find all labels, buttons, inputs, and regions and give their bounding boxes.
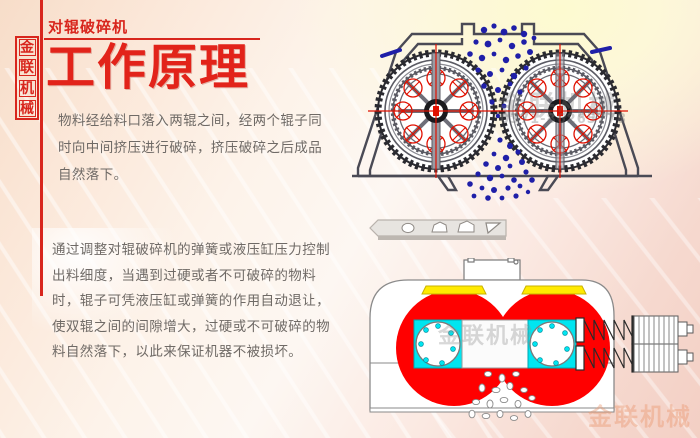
feed-plate-right [522,286,586,294]
logo-char-2: 联 [19,59,36,76]
poster-canvas: 金 联 机 械 对辊破碎机 工作原理 物料经给料口落入两辊之间，经两个辊子同时向… [0,0,700,438]
vertical-red-rule [40,0,43,296]
page-title: 工作原理 [46,40,250,96]
material-shape-ellipse [402,223,414,232]
logo-char-4: 械 [19,100,36,117]
kicker-subtitle: 对辊破碎机 [48,16,128,37]
logo-char-3: 机 [19,80,36,97]
roller-left-cross-section [368,44,504,178]
corner-watermark-brand: 金联机械 [588,397,692,432]
feed-plate-left [422,286,486,294]
machine-watermark-brand: 金联机械 [438,318,534,350]
brand-logo: 金 联 机 械 [15,36,39,120]
paragraph-one: 物料经给料口落入两辊之间，经两个辊子同时向中间挤压进行破碎，挤压破碎之后成品自然… [58,108,330,189]
logo-char-1: 金 [19,39,36,56]
tension-rod-assembly [634,316,693,372]
paragraph-two: 通过调整对辊破碎机的弹簧或液压缸压力控制出料细度，当遇到过硬或者不可破碎的物料时… [52,238,336,366]
discharge-chute [368,216,510,246]
diagram-watermark-phone: 0371-86265778 [500,112,627,127]
